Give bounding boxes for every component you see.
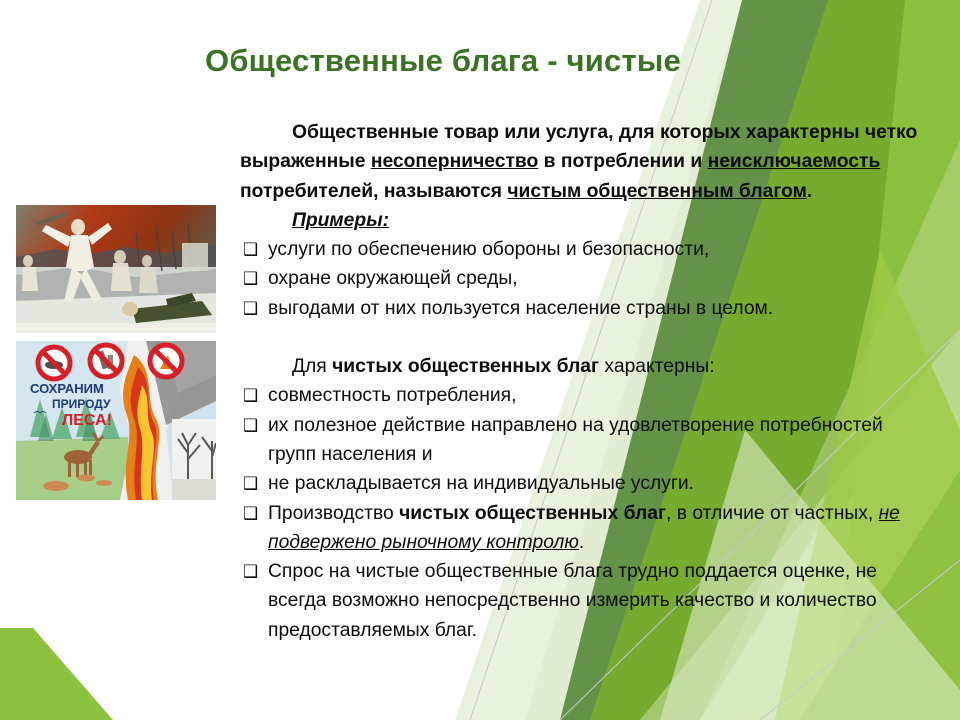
poster-line-2: ПРИРОДУ bbox=[52, 397, 111, 411]
poster-line-3: ЛЕСА! bbox=[62, 412, 112, 429]
bottom-left-wedge bbox=[0, 628, 113, 720]
slide-canvas: Общественные блага - чистые bbox=[0, 0, 960, 720]
list-item: ❑совместность потребления, bbox=[240, 381, 930, 410]
term-non-rivalry: несоперничество bbox=[371, 151, 538, 172]
square-bullet-icon: ❑ bbox=[243, 557, 258, 586]
list-item-label: Спрос на чистые общественные блага трудн… bbox=[268, 561, 877, 641]
image-war-defense-painting bbox=[16, 205, 216, 333]
list-item-seg-1: Производство bbox=[268, 503, 399, 524]
definition-paragraph: Общественные товар или услуга, для котор… bbox=[240, 118, 930, 206]
list-item-label: услуги по обеспечению обороны и безопасн… bbox=[268, 239, 709, 260]
features-heading-bold: чистых общественных благ bbox=[332, 356, 599, 377]
section-spacer bbox=[240, 323, 930, 352]
features-heading: Для чистых общественных благ характерны: bbox=[240, 352, 930, 381]
examples-list: ❑услуги по обеспечению обороны и безопас… bbox=[240, 235, 930, 323]
square-bullet-icon: ❑ bbox=[243, 469, 258, 498]
features-heading-seg-1: Для bbox=[292, 356, 332, 377]
examples-heading: Примеры: bbox=[240, 206, 930, 235]
list-item: ❑Производство чистых общественных благ, … bbox=[240, 499, 930, 558]
list-item-label: охране окружающей среды, bbox=[268, 268, 518, 289]
list-item-seg-2: , в отличие от частных, bbox=[666, 503, 879, 524]
list-item: ❑выгодами от них пользуется население ст… bbox=[240, 294, 930, 323]
definition-seg-2: в потреблении и bbox=[538, 151, 707, 172]
list-item-label: их полезное действие направлено на удовл… bbox=[268, 415, 883, 465]
square-bullet-icon: ❑ bbox=[243, 235, 258, 264]
square-bullet-icon: ❑ bbox=[243, 264, 258, 293]
list-item-seg-3: . bbox=[579, 532, 584, 553]
definition-seg-4: . bbox=[807, 181, 812, 202]
square-bullet-icon: ❑ bbox=[243, 381, 258, 410]
no-fire-sign bbox=[150, 345, 182, 377]
slide-body: Общественные товар или услуга, для котор… bbox=[240, 118, 930, 645]
page-title: Общественные блага - чистые bbox=[205, 44, 805, 78]
no-hunting-sign bbox=[38, 347, 70, 379]
definition-seg-3: потребителей, называются bbox=[240, 181, 507, 202]
list-item-label: не раскладывается на индивидуальные услу… bbox=[268, 473, 694, 494]
square-bullet-icon: ❑ bbox=[243, 411, 258, 440]
list-item-label: выгодами от них пользуется население стр… bbox=[268, 298, 773, 319]
square-bullet-icon: ❑ bbox=[243, 294, 258, 323]
list-item-label: совместность потребления, bbox=[268, 385, 516, 406]
list-item: ❑Спрос на чистые общественные блага труд… bbox=[240, 557, 930, 645]
list-item: ❑не раскладывается на индивидуальные усл… bbox=[240, 469, 930, 498]
list-item: ❑их полезное действие направлено на удов… bbox=[240, 411, 930, 470]
poster-line-1: СОХРАНИМ bbox=[30, 381, 104, 396]
features-list: ❑совместность потребления, ❑их полезное … bbox=[240, 381, 930, 645]
list-item: ❑охране окружающей среды, bbox=[240, 264, 930, 293]
image-forest-protection-poster: СОХРАНИМ ПРИРОДУ ЛЕСА! bbox=[16, 341, 216, 500]
features-heading-seg-2: характерны: bbox=[599, 356, 715, 377]
square-bullet-icon: ❑ bbox=[243, 499, 258, 528]
term-non-excludability: неисключаемость bbox=[708, 151, 881, 172]
term-pure-public-good: чистым общественным благом bbox=[507, 181, 807, 202]
examples-heading-text: Примеры: bbox=[292, 210, 389, 231]
no-littering-sign bbox=[90, 345, 122, 377]
list-item-bold: чистых общественных благ bbox=[399, 503, 666, 524]
list-item: ❑услуги по обеспечению обороны и безопас… bbox=[240, 235, 930, 264]
